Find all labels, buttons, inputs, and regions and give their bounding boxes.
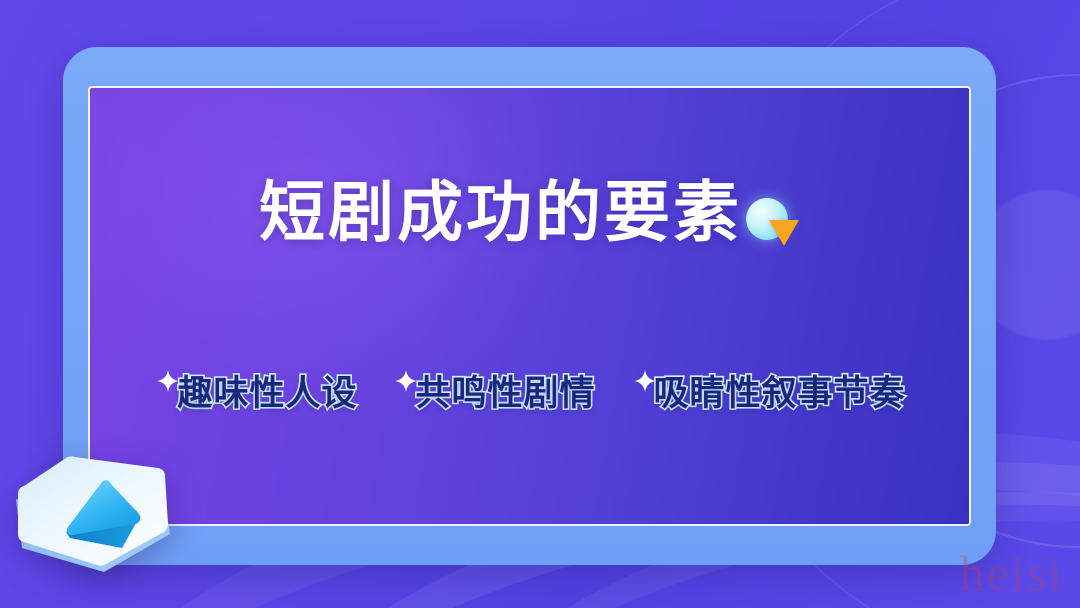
title-row: 短剧成功的要素 bbox=[90, 180, 969, 246]
page-title: 短剧成功的要素 bbox=[259, 180, 742, 246]
keyword-item-3: 吸睛性叙事节奏 bbox=[630, 376, 906, 413]
sparkle-star-icon bbox=[634, 370, 656, 392]
watermark: heisi bbox=[960, 544, 1064, 602]
title-badge bbox=[744, 196, 800, 252]
slide-screen: 短剧成功的要素 趣味性人设 bbox=[90, 88, 969, 524]
sparkle-star-icon bbox=[157, 370, 179, 392]
keyword-label: 吸睛性叙事节奏 bbox=[654, 376, 906, 413]
slide-canvas: 短剧成功的要素 趣味性人设 bbox=[0, 0, 1080, 608]
keyword-item-2: 共鸣性剧情 bbox=[391, 376, 595, 413]
keyword-label: 共鸣性剧情 bbox=[415, 376, 595, 413]
keyword-item-1: 趣味性人设 bbox=[153, 376, 357, 413]
play-triangle-logo-icon bbox=[8, 452, 186, 576]
keyword-label: 趣味性人设 bbox=[177, 376, 357, 413]
keyword-list: 趣味性人设 共鸣性剧情 bbox=[90, 376, 969, 413]
cursor-triangle-icon bbox=[769, 220, 799, 246]
slide-frame: 短剧成功的要素 趣味性人设 bbox=[63, 47, 996, 565]
slide-frame-inner-border: 短剧成功的要素 趣味性人设 bbox=[88, 86, 971, 526]
sparkle-star-icon bbox=[395, 370, 417, 392]
